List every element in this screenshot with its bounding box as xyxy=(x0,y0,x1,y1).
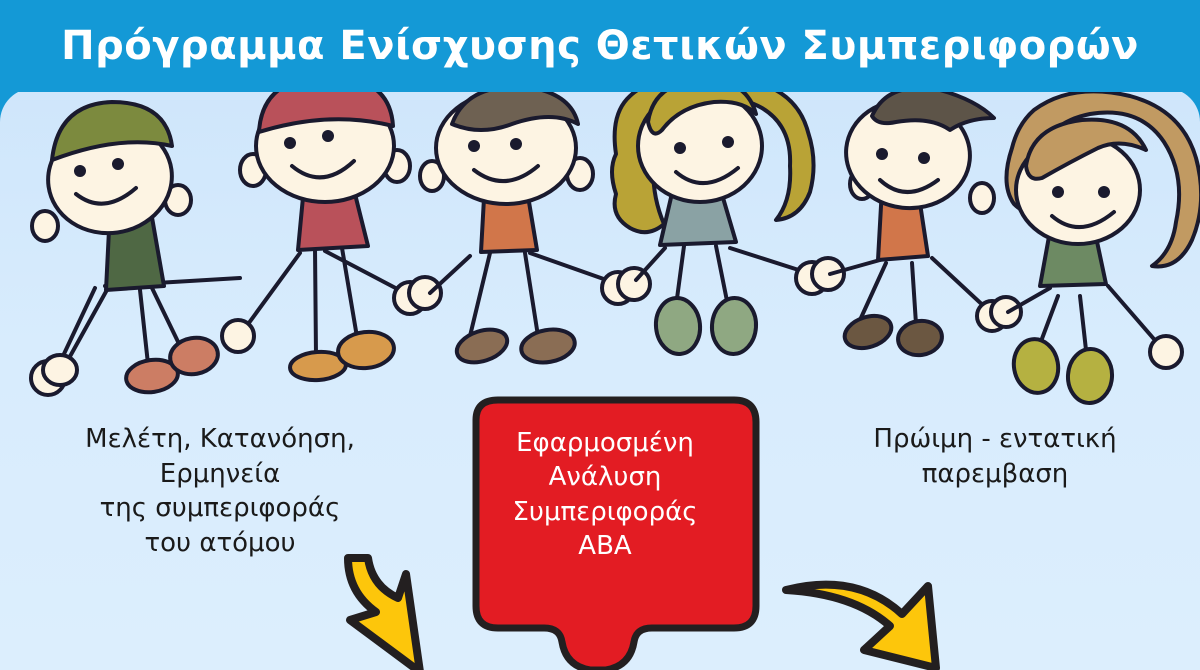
arrow-up-right-icon xyxy=(300,552,480,670)
caption-right: Πρώιμη - εντατική παρεμβαση xyxy=(800,422,1190,491)
caption-right-line-1: Πρώιμη - εντατική xyxy=(800,422,1190,457)
caption-left: Μελέτη, Κατανόηση, Ερμηνεία της συμπεριφ… xyxy=(20,422,420,560)
aba-callout: Εφαρμοσμένη Ανάλυση Συμπεριφοράς ABA xyxy=(440,390,770,670)
caption-left-line-2: Ερμηνεία xyxy=(20,457,420,492)
caption-left-line-3: της συμπεριφοράς xyxy=(20,491,420,526)
aba-line-3: Συμπεριφοράς xyxy=(468,495,742,529)
aba-callout-text: Εφαρμοσμένη Ανάλυση Συμπεριφοράς ABA xyxy=(468,426,742,563)
caption-right-line-2: παρεμβαση xyxy=(800,457,1190,492)
arrow-down-right-icon xyxy=(778,568,948,670)
aba-line-2: Ανάλυση xyxy=(468,460,742,494)
caption-left-line-1: Μελέτη, Κατανόηση, xyxy=(20,422,420,457)
poster-root: Πρόγραμμα Ενίσχυσης Θετικών Συμπεριφορών xyxy=(0,0,1200,670)
page-title: Πρόγραμμα Ενίσχυσης Θετικών Συμπεριφορών xyxy=(0,0,1200,92)
aba-line-1: Εφαρμοσμένη xyxy=(468,426,742,460)
aba-line-4: ABA xyxy=(468,529,742,563)
